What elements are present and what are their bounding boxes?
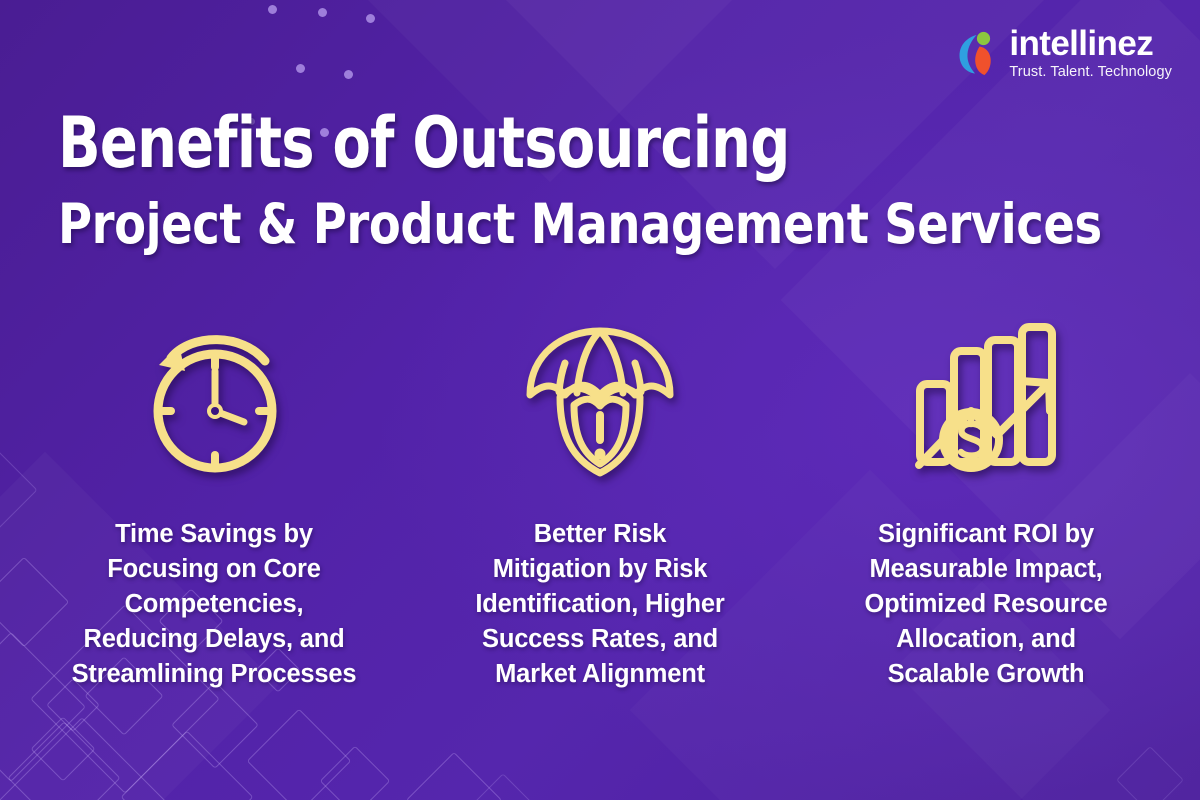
- background-diamond-outline: [121, 731, 254, 800]
- background-dot: [344, 70, 353, 79]
- benefit-column-risk-mitigation: Better Risk Mitigation by Risk Identific…: [430, 318, 770, 692]
- background-dot: [268, 5, 277, 14]
- umbrella-shield-alert-icon: [520, 318, 680, 483]
- background-dot: [296, 64, 305, 73]
- background-diamond-outline: [473, 773, 532, 800]
- background-diamond-outline: [30, 716, 95, 781]
- bar-chart-growth-dollar-icon: [906, 318, 1066, 483]
- benefits-row: Time Savings by Focusing on Core Compete…: [0, 318, 1200, 692]
- benefit-column-time-savings: Time Savings by Focusing on Core Compete…: [44, 318, 384, 692]
- background-diamond-outline: [406, 752, 502, 800]
- brand-tagline: Trust. Talent. Technology: [1009, 65, 1172, 80]
- page-subtitle: Project & Product Management Services: [58, 196, 979, 254]
- background-dot: [318, 8, 327, 17]
- page-title: Benefits of Outsourcing: [58, 108, 930, 178]
- background-diamond-outline: [7, 721, 120, 800]
- intellinez-logo-mark-icon: [956, 30, 1000, 76]
- brand-logo[interactable]: intellinez Trust. Talent. Technology: [956, 26, 1172, 80]
- benefit-caption: Time Savings by Focusing on Core Compete…: [72, 517, 357, 692]
- background-diamond-outline: [1116, 746, 1184, 800]
- benefit-caption: Significant ROI by Measurable Impact, Op…: [865, 517, 1108, 692]
- heading-block: Benefits of Outsourcing Project & Produc…: [58, 108, 1148, 254]
- background-diamond-outline: [0, 717, 167, 800]
- infographic-poster: intellinez Trust. Talent. Technology Ben…: [0, 0, 1200, 800]
- background-diamond-outline: [247, 709, 352, 800]
- background-diamond-outline: [171, 681, 259, 769]
- background-diamond-outline: [320, 746, 391, 800]
- benefit-caption: Better Risk Mitigation by Risk Identific…: [475, 517, 724, 692]
- brand-name: intellinez: [1009, 26, 1153, 61]
- brand-logo-text: intellinez Trust. Talent. Technology: [1009, 26, 1172, 80]
- benefit-column-roi: Significant ROI by Measurable Impact, Op…: [816, 318, 1156, 692]
- background-dot: [366, 14, 375, 23]
- clock-rewind-icon: [134, 318, 294, 483]
